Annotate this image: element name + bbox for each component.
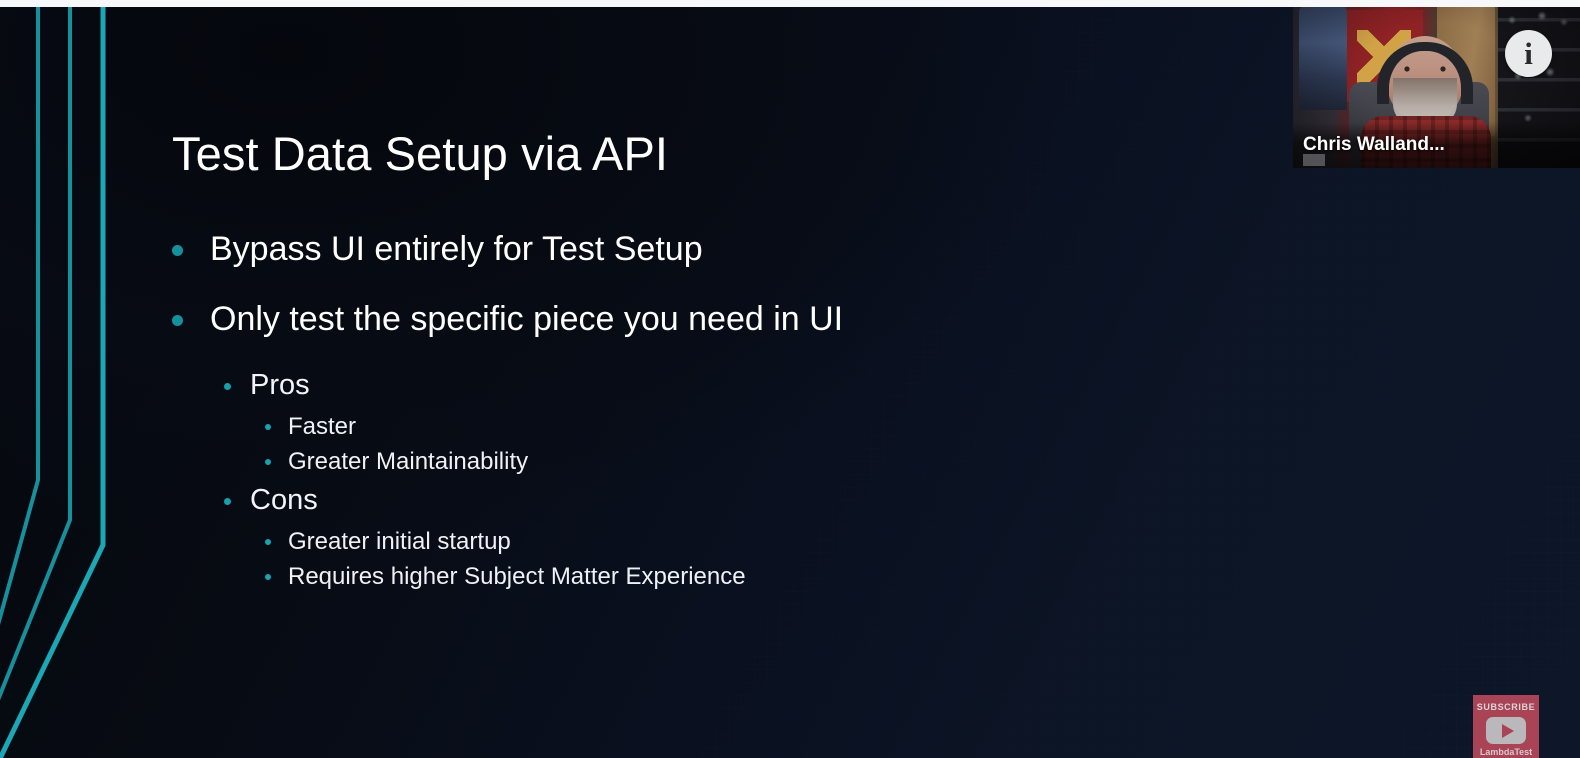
bullet-item-level3: Faster xyxy=(265,411,1232,443)
bullet-text: Requires higher Subject Matter Experienc… xyxy=(288,561,746,593)
bullet-text: Faster xyxy=(288,411,356,443)
subscribe-watermark[interactable]: SUBSCRIBE LambdaTest xyxy=(1473,695,1539,758)
bullet-dot-icon xyxy=(224,383,231,390)
bullet-dot-icon xyxy=(265,424,271,430)
bullet-item-level2: Cons xyxy=(224,482,1232,520)
bullet-item-level3: Greater Maintainability xyxy=(265,446,1232,478)
bullet-dot-icon xyxy=(224,498,231,505)
slide-title: Test Data Setup via API xyxy=(172,126,668,181)
bullet-text: Pros xyxy=(250,367,310,405)
slide-content: Test Data Setup via API Bypass UI entire… xyxy=(0,0,1280,758)
bullet-list: Bypass UI entirely for Test Setup Only t… xyxy=(172,228,1232,597)
slide-screen: Test Data Setup via API Bypass UI entire… xyxy=(0,0,1580,758)
bullet-dot-icon xyxy=(265,459,271,465)
bullet-dot-icon xyxy=(265,574,271,580)
bullet-dot-icon xyxy=(172,245,183,256)
subscribe-label: SUBSCRIBE xyxy=(1477,702,1535,712)
bullet-item-level3: Requires higher Subject Matter Experienc… xyxy=(265,561,1232,593)
pros-group: Pros Faster Greater Maintainability xyxy=(172,367,1232,478)
info-icon-glyph: i xyxy=(1524,38,1533,69)
webcam-speaker-name: Chris Walland... xyxy=(1303,134,1445,156)
bullet-dot-icon xyxy=(265,539,271,545)
bullet-item-level3: Greater initial startup xyxy=(265,526,1232,558)
subscribe-channel-name: LambdaTest xyxy=(1480,747,1532,757)
bullet-text: Greater initial startup xyxy=(288,526,511,558)
top-edge-strip xyxy=(0,0,1580,7)
bullet-text: Only test the specific piece you need in… xyxy=(210,298,843,342)
webcam-overlay[interactable]: Chris Walland... xyxy=(1293,0,1580,168)
play-triangle-icon xyxy=(1502,724,1514,738)
bullet-text: Bypass UI entirely for Test Setup xyxy=(210,228,703,272)
bullet-item-level1: Bypass UI entirely for Test Setup xyxy=(172,228,1232,272)
cons-group: Cons Greater initial startup Requires hi… xyxy=(172,482,1232,593)
info-icon[interactable]: i xyxy=(1505,30,1552,77)
bullet-dot-icon xyxy=(172,315,183,326)
bullet-item-level1: Only test the specific piece you need in… xyxy=(172,298,1232,342)
youtube-play-icon xyxy=(1486,717,1526,744)
bullet-item-level2: Pros xyxy=(224,367,1232,405)
bullet-text: Cons xyxy=(250,482,318,520)
bullet-text: Greater Maintainability xyxy=(288,446,528,478)
